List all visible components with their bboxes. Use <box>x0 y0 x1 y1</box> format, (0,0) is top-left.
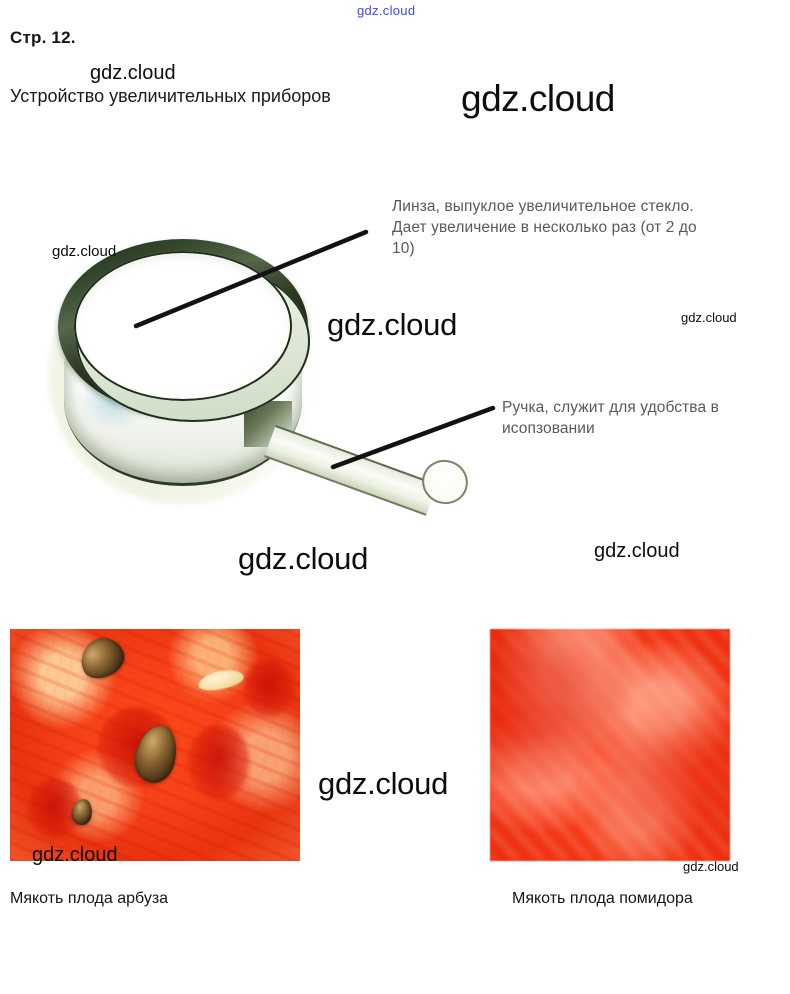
watermark-title-small: gdz.cloud <box>90 62 176 85</box>
magnifier-handle <box>270 410 456 480</box>
magnifying-glass-image <box>48 225 348 525</box>
page-title: Устройство увеличительных приборов <box>10 86 331 107</box>
watermark-middle-large: gdz.cloud <box>318 766 448 802</box>
watermelon-blotch <box>188 725 250 799</box>
page-number-label: Стр. 12. <box>10 28 76 48</box>
watermelon-blotch <box>244 659 294 717</box>
watermark-title-large: gdz.cloud <box>461 78 615 120</box>
caption-tomato: Мякоть плода помидора <box>512 890 693 908</box>
annotation-lens: Линза, выпуклое увеличительное стекло. Д… <box>392 196 722 259</box>
document-page: Стр. 12. Устройство увеличительных прибо… <box>0 0 790 994</box>
photo-watermelon-flesh <box>10 629 300 861</box>
watermark-tomato: gdz.cloud <box>683 859 739 874</box>
lens-glass <box>74 251 292 401</box>
photo-tomato-flesh <box>490 629 730 861</box>
tomato-texture <box>490 629 730 861</box>
watermark-top-blue: gdz.cloud <box>357 3 415 18</box>
handle-shaft <box>264 425 437 516</box>
annotation-handle: Ручка, служит для удобства в исопзовании <box>502 397 772 439</box>
caption-watermelon: Мякоть плода арбуза <box>10 890 168 908</box>
